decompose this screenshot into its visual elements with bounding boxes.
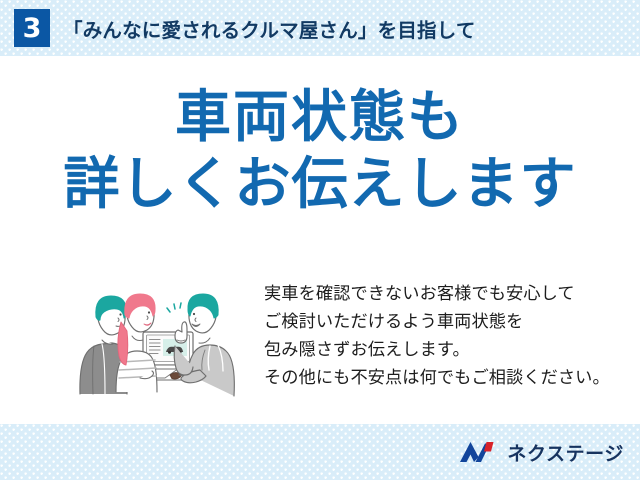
banner-main: 車両状態も 詳しくお伝えします bbox=[0, 56, 640, 424]
headline: 車両状態も 詳しくお伝えします bbox=[0, 84, 640, 217]
header-title: 「みんなに愛されるクルマ屋さん」を目指して bbox=[63, 14, 476, 43]
banner-footer: ネクステージ bbox=[0, 424, 640, 480]
promo-banner: 3 「みんなに愛されるクルマ屋さん」を目指して 車両状態も 詳しくお伝えします bbox=[0, 0, 640, 480]
nextage-logo-text: ネクステージ bbox=[507, 439, 624, 466]
body-copy-line-4: その他にも不安点は何でもご相談ください。 bbox=[264, 364, 610, 392]
nextage-n-mark-icon bbox=[458, 439, 502, 465]
section-number-badge: 3 bbox=[14, 9, 50, 47]
body-copy: 実車を確認できないお客様でも安心して ご検討いただけるよう車両状態を 包み隠さず… bbox=[264, 280, 610, 391]
banner-header: 3 「みんなに愛されるクルマ屋さん」を目指して bbox=[0, 0, 640, 56]
nextage-logo: ネクステージ bbox=[458, 439, 624, 466]
body-copy-line-2: ご検討いただけるよう車両状態を bbox=[264, 308, 610, 336]
content-row: 実車を確認できないお客様でも安心して ご検討いただけるよう車両状態を 包み隠さず… bbox=[0, 274, 640, 414]
headline-line-1: 車両状態も bbox=[0, 84, 640, 151]
body-copy-line-1: 実車を確認できないお客様でも安心して bbox=[264, 280, 610, 308]
body-copy-line-3: 包み隠さずお伝えします。 bbox=[264, 336, 610, 364]
consultation-illustration bbox=[58, 274, 256, 399]
consultation-illustration-svg bbox=[58, 274, 256, 399]
headline-line-2: 詳しくお伝えします bbox=[0, 151, 640, 218]
